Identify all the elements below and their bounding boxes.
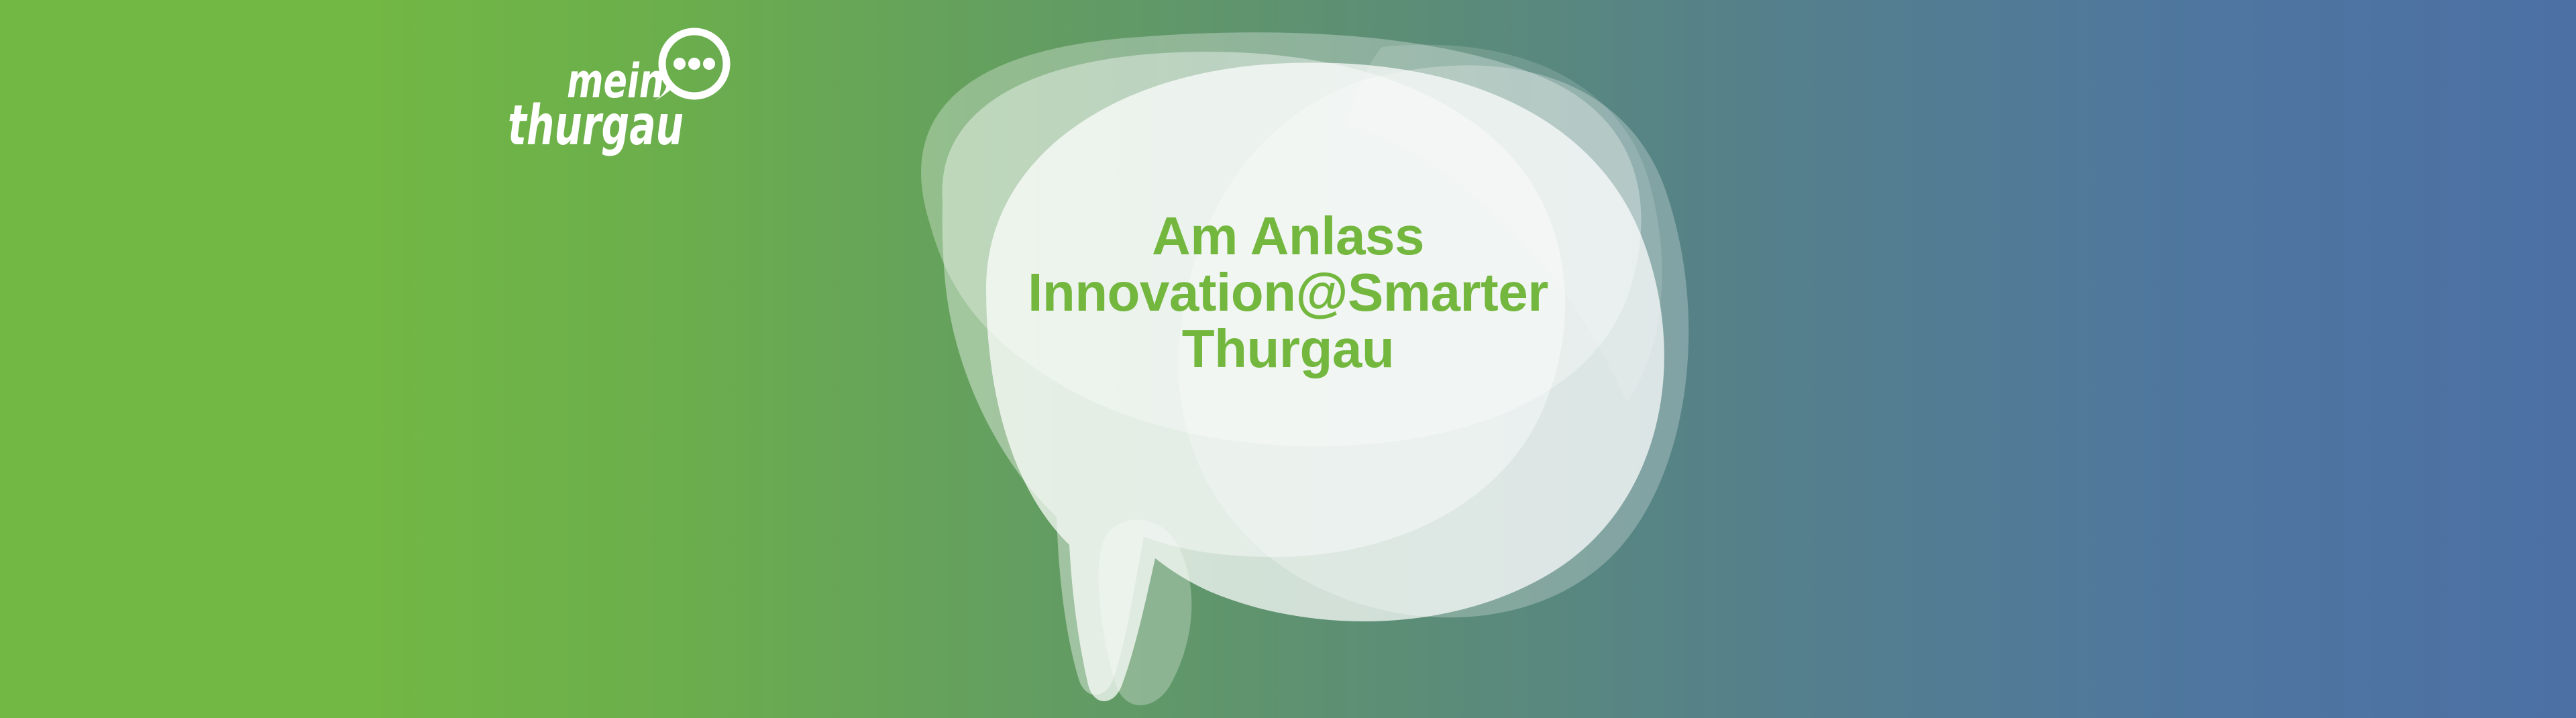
logo-mein-thurgau[interactable]: mein thurgau bbox=[493, 23, 745, 168]
logo-line-thurgau: thurgau bbox=[508, 94, 684, 158]
page-title: Am Anlass Innovation@Smarter Thurgau bbox=[956, 208, 1620, 377]
event-banner: Am Anlass Innovation@Smarter Thurgau mei… bbox=[0, 0, 2576, 718]
speech-bubble-ellipsis-icon bbox=[653, 32, 727, 101]
